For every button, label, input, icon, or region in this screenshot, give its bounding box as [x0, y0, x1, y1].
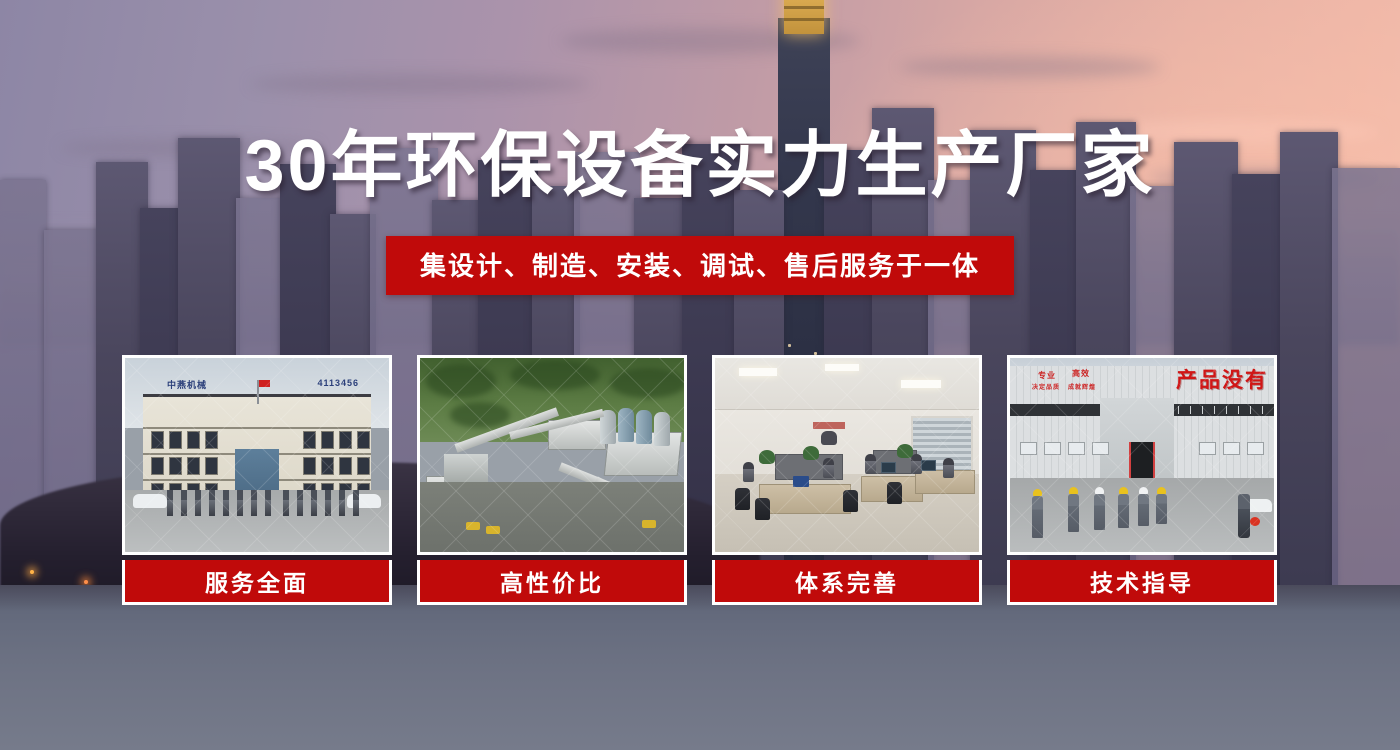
- potted-plant-1: [759, 450, 775, 464]
- card-photo-factory-workers: 产品没有 专业 高效 决定品质 成就辉煌: [1007, 355, 1277, 555]
- feature-card[interactable]: 中燕机械 4113456 服务全面: [122, 355, 392, 605]
- factory-sign-word-3: 决定品质: [1032, 382, 1060, 391]
- laptop: [793, 476, 809, 487]
- chair-3: [843, 490, 858, 512]
- card-caption: 高性价比: [417, 560, 687, 605]
- subtitle-banner-wrap: 集设计、制造、安装、调试、售后服务于一体: [0, 236, 1400, 295]
- subtitle-banner: 集设计、制造、安装、调试、售后服务于一体: [386, 236, 1014, 295]
- excavator-2: [486, 526, 500, 534]
- wall-poster: [813, 422, 845, 448]
- potted-plant-3: [897, 444, 913, 458]
- employee-1: [743, 462, 754, 482]
- worker-6: [1156, 494, 1167, 524]
- employee-3: [865, 454, 876, 474]
- factory-window-6: [1223, 442, 1240, 455]
- red-helmet: [1250, 517, 1260, 526]
- building-25: [1332, 168, 1400, 598]
- factory-window-3: [1068, 442, 1085, 455]
- potted-plant-2: [803, 446, 819, 460]
- employee-2: [823, 458, 834, 478]
- shore-light-2: [84, 580, 88, 584]
- card-photo-office-interior: [712, 355, 982, 555]
- card-caption: 技术指导: [1007, 560, 1277, 605]
- hero-banner: 30年环保设备实力生产厂家 集设计、制造、安装、调试、售后服务于一体: [0, 0, 1400, 750]
- parked-car-left: [133, 494, 167, 508]
- factory-sign-word-4: 成就辉煌: [1068, 382, 1096, 391]
- feature-card[interactable]: 高性价比: [417, 355, 687, 605]
- card-photo-industrial-plant: [417, 355, 687, 555]
- page-title: 30年环保设备实力生产厂家: [0, 130, 1400, 202]
- silo-3: [636, 410, 652, 444]
- card-caption: 服务全面: [122, 560, 392, 605]
- river-water: [0, 585, 1400, 750]
- card-caption: 体系完善: [712, 560, 982, 605]
- employee-5: [943, 458, 954, 478]
- chair-1: [735, 488, 750, 510]
- silo-4: [654, 412, 670, 446]
- worker-4: [1118, 494, 1129, 528]
- factory-sign-main: 产品没有: [1176, 364, 1268, 394]
- card-photo-headquarters: 中燕机械 4113456: [122, 355, 392, 555]
- monitor-2: [921, 460, 936, 471]
- feature-card[interactable]: 体系完善: [712, 355, 982, 605]
- chair-2: [755, 498, 770, 520]
- building-signage: 中燕机械: [167, 378, 207, 391]
- feature-card[interactable]: 产品没有 专业 高效 决定品质 成就辉煌: [1007, 355, 1277, 605]
- building-24: [1280, 132, 1338, 600]
- shore-light-1: [30, 570, 34, 574]
- factory-window-2: [1044, 442, 1061, 455]
- factory-window-1: [1020, 442, 1037, 455]
- flag-pole: [257, 380, 259, 404]
- tower-crown-lights: [784, 0, 824, 34]
- factory-window-7: [1199, 442, 1216, 455]
- worker-1: [1032, 496, 1043, 538]
- factory-sign-word-1: 专业: [1038, 370, 1056, 381]
- excavator-1: [466, 522, 480, 530]
- supervisor: [1238, 494, 1250, 538]
- factory-window-4: [1092, 442, 1109, 455]
- excavator-3: [642, 520, 656, 528]
- factory-window-5: [1247, 442, 1264, 455]
- factory-sign-word-2: 高效: [1072, 368, 1090, 379]
- silo-2: [618, 408, 634, 442]
- building-phone-number: 4113456: [317, 378, 359, 388]
- feature-card-list: 中燕机械 4113456 服务全面: [122, 355, 1280, 605]
- office-building: [143, 394, 371, 498]
- worker-3: [1094, 494, 1105, 530]
- monitor-1: [881, 462, 896, 473]
- desk-1: [759, 484, 851, 514]
- chair-4: [887, 482, 902, 504]
- worker-5: [1138, 494, 1149, 526]
- worker-2: [1068, 494, 1079, 532]
